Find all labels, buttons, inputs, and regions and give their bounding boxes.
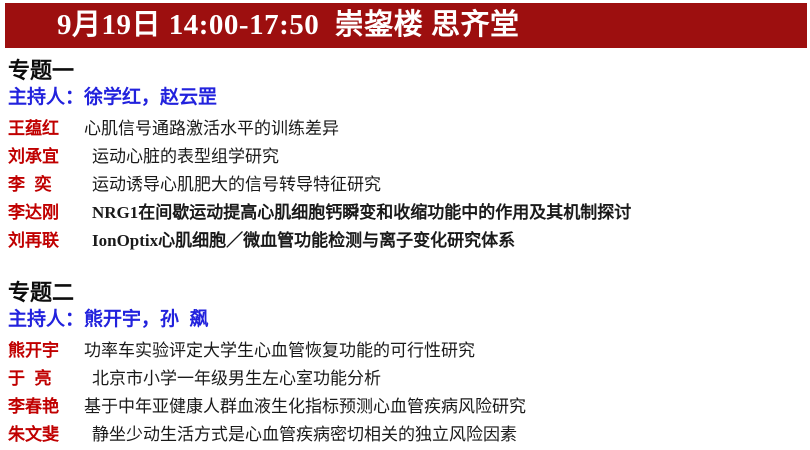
talk-row: 李达刚 NRG1在间歇运动提高心肌细胞钙瞬变和收缩功能中的作用及其机制探讨 <box>0 199 810 227</box>
talk-speaker: 李 奕 <box>8 171 84 199</box>
talk-title: 运动诱导心肌肥大的信号转导特征研究 <box>84 171 381 199</box>
talk-title: 基于中年亚健康人群血液生化指标预测心血管疾病风险研究 <box>84 393 526 421</box>
talk-speaker: 王蕴红 <box>8 115 84 143</box>
session-block-1: 专题一 主持人：徐学红，赵云罡 王蕴红 心肌信号通路激活水平的训练差异 刘承宜 … <box>0 58 810 255</box>
talk-speaker: 刘承宜 <box>8 143 84 171</box>
talk-row: 李春艳 基于中年亚健康人群血液生化指标预测心血管疾病风险研究 <box>0 393 810 421</box>
talk-title: 功率车实验评定大学生心血管恢复功能的可行性研究 <box>84 337 475 365</box>
session-1-talk-list: 王蕴红 心肌信号通路激活水平的训练差异 刘承宜 运动心脏的表型组学研究 李 奕 … <box>0 115 810 255</box>
talk-row: 朱文斐 静坐少动生活方式是心血管疾病密切相关的独立风险因素 <box>0 421 810 449</box>
talk-row: 刘再联 IonOptix心肌细胞／微血管功能检测与离子变化研究体系 <box>0 227 810 255</box>
session-1-heading: 专题一 <box>0 58 810 84</box>
session-2-talk-list: 熊开宇 功率车实验评定大学生心血管恢复功能的可行性研究 于 亮 北京市小学一年级… <box>0 337 810 449</box>
talk-row: 熊开宇 功率车实验评定大学生心血管恢复功能的可行性研究 <box>0 337 810 365</box>
talk-title: NRG1在间歇运动提高心肌细胞钙瞬变和收缩功能中的作用及其机制探讨 <box>84 199 631 227</box>
session-block-2: 专题二 主持人：熊开宇，孙 飙 熊开宇 功率车实验评定大学生心血管恢复功能的可行… <box>0 280 810 449</box>
talk-title: 运动心脏的表型组学研究 <box>84 143 279 171</box>
talk-speaker: 李春艳 <box>8 393 84 421</box>
talk-speaker: 朱文斐 <box>8 421 84 449</box>
talk-row: 于 亮 北京市小学一年级男生左心室功能分析 <box>0 365 810 393</box>
session-2-heading: 专题二 <box>0 280 810 306</box>
header-banner: 9月19日 14:00-17:50 崇鋆楼 思齐堂 <box>5 3 807 48</box>
talk-row: 刘承宜 运动心脏的表型组学研究 <box>0 143 810 171</box>
talk-speaker: 熊开宇 <box>8 337 84 365</box>
banner-title: 9月19日 14:00-17:50 崇鋆楼 思齐堂 <box>57 11 519 40</box>
talk-speaker: 李达刚 <box>8 199 84 227</box>
session-2-chair: 主持人：熊开宇，孙 飙 <box>0 308 810 332</box>
talk-row: 王蕴红 心肌信号通路激活水平的训练差异 <box>0 115 810 143</box>
talk-speaker: 于 亮 <box>8 365 84 393</box>
talk-title: 北京市小学一年级男生左心室功能分析 <box>84 365 381 393</box>
talk-title: 静坐少动生活方式是心血管疾病密切相关的独立风险因素 <box>84 421 517 449</box>
talk-title: 心肌信号通路激活水平的训练差异 <box>84 115 339 143</box>
session-1-chair: 主持人：徐学红，赵云罡 <box>0 86 810 110</box>
conference-agenda-slide: 9月19日 14:00-17:50 崇鋆楼 思齐堂 专题一 主持人：徐学红，赵云… <box>0 0 810 450</box>
talk-row: 李 奕 运动诱导心肌肥大的信号转导特征研究 <box>0 171 810 199</box>
talk-speaker: 刘再联 <box>8 227 84 255</box>
talk-title: IonOptix心肌细胞／微血管功能检测与离子变化研究体系 <box>84 227 515 255</box>
